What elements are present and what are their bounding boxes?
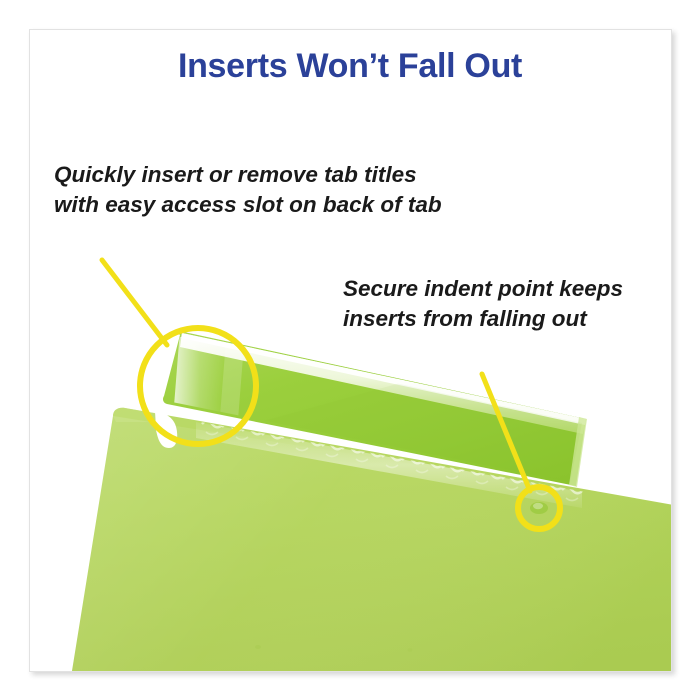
secure-indent-point bbox=[530, 502, 548, 514]
leader-line-access-slot bbox=[102, 260, 167, 345]
product-feature-image: Inserts Won’t Fall Out Quickly insert or… bbox=[0, 0, 700, 700]
photo-frame bbox=[29, 29, 672, 672]
product-illustration bbox=[30, 30, 672, 672]
